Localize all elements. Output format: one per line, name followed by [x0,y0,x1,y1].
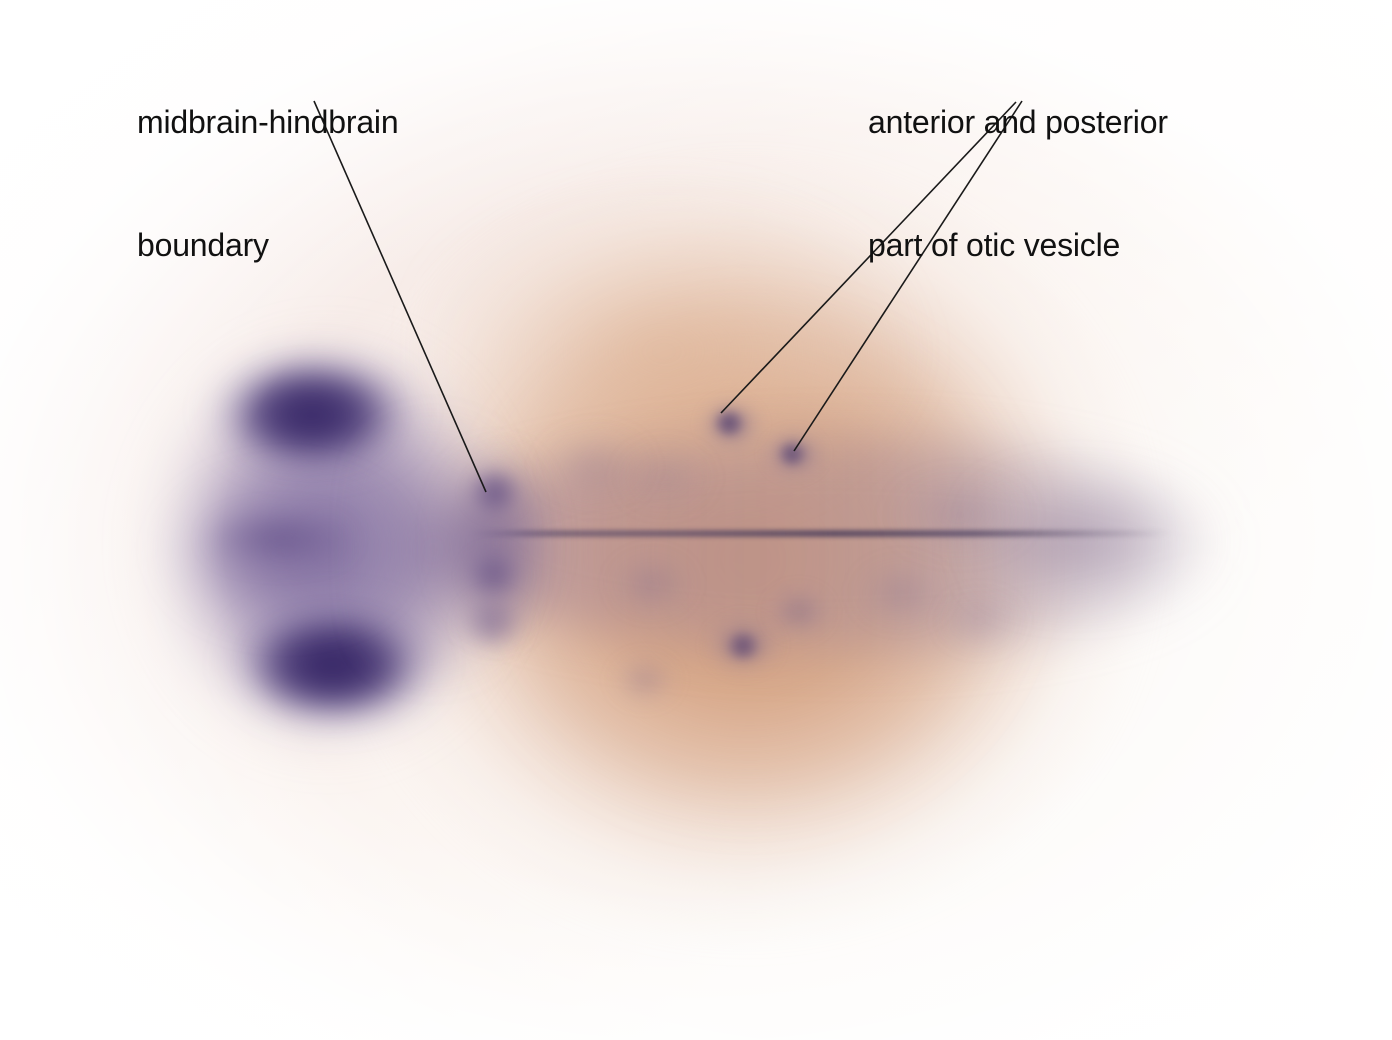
annotation-label-otic-vesicle: anterior and posterior part of otic vesi… [868,20,1168,348]
annotated-micrograph-figure: midbrain-hindbrain boundary anterior and… [0,0,1392,1040]
annotation-label-line-1: anterior and posterior [868,102,1168,143]
annotation-label-line-2: part of otic vesicle [868,225,1168,266]
annotation-overlay: midbrain-hindbrain boundary anterior and… [0,0,1392,1040]
annotation-label-line-2: boundary [137,225,398,266]
annotation-label-midbrain-hindbrain-boundary: midbrain-hindbrain boundary [137,20,398,348]
annotation-label-line-1: midbrain-hindbrain [137,102,398,143]
